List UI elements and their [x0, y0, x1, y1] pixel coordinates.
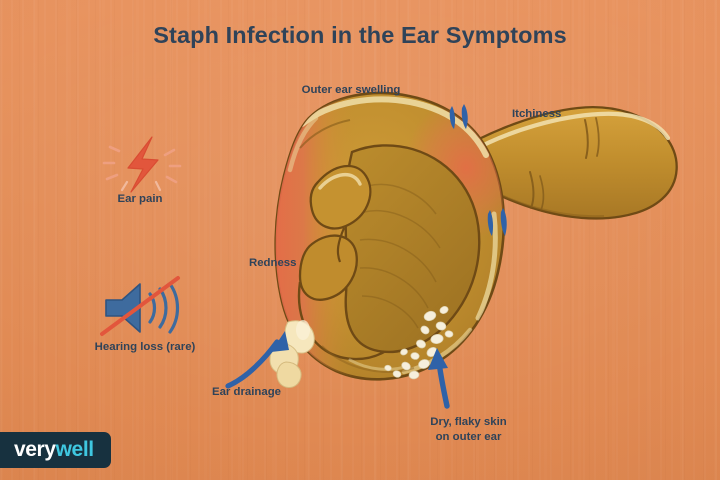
symptom-label-redness: Redness [249, 256, 349, 271]
logo-text-well: well [56, 438, 94, 462]
verywell-logo[interactable]: verywell [0, 432, 111, 468]
symptom-label-outer-ear-swelling: Outer ear swelling [247, 83, 455, 98]
symptom-label-itchiness: Itchiness [512, 107, 632, 122]
lightning-bolt-icon [104, 137, 180, 192]
symptom-label-ear-pain: Ear pain [60, 192, 220, 207]
ear-drainage-discharge [270, 320, 314, 388]
infographic-canvas: Staph Infection in the Ear Symptoms [0, 0, 720, 480]
muted-speaker-icon [102, 278, 178, 334]
symptom-label-dry-flaky-skin: Dry, flaky skin on outer ear [396, 415, 541, 444]
symptom-label-ear-drainage: Ear drainage [212, 385, 352, 400]
logo-text-very: very [14, 438, 56, 462]
symptom-label-hearing-loss: Hearing loss (rare) [50, 340, 240, 355]
ear-illustration [0, 0, 720, 480]
